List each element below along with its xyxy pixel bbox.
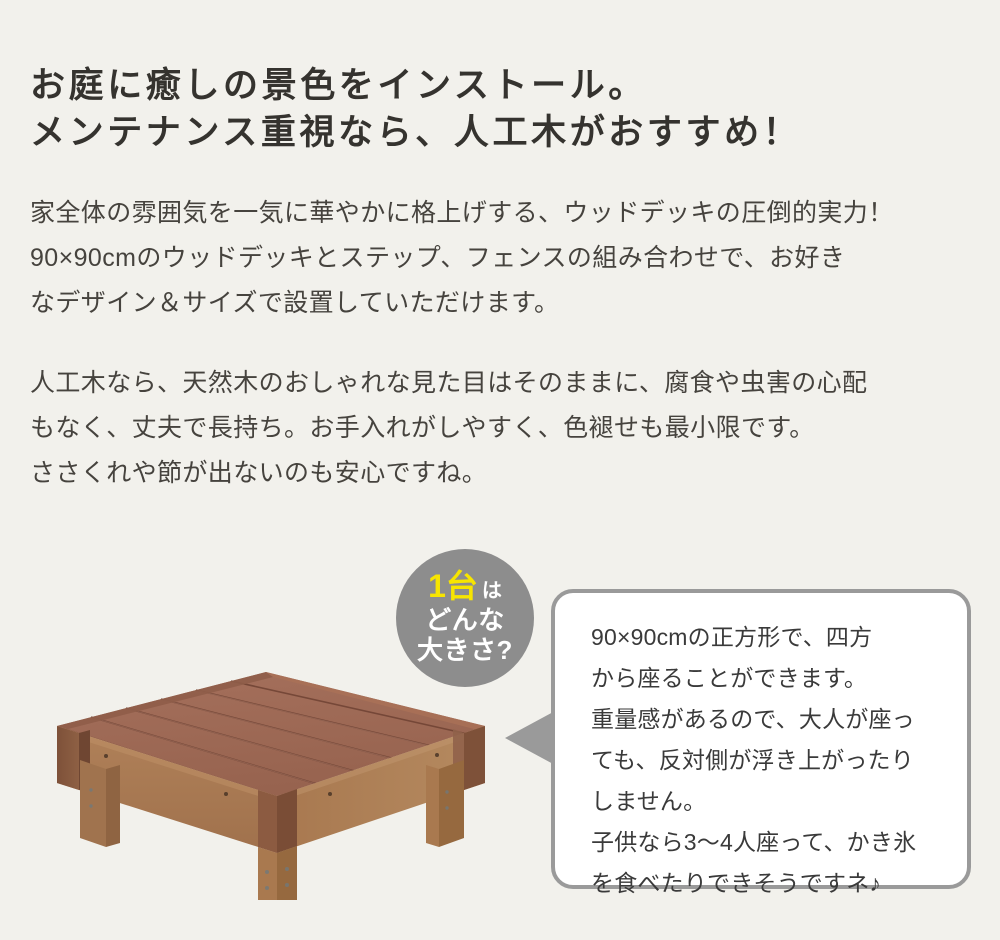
callout-line-1: 90×90cmの正方形で、四方 <box>591 617 951 658</box>
page-title-line-2: メンテナンス重視なら、人工木がおすすめ！ <box>30 109 960 156</box>
page-root: お庭に癒しの景色をインストール。 メンテナンス重視なら、人工木がおすすめ！ 家全… <box>0 0 1000 940</box>
description-paragraph-2-line-2: もなく、丈夫で長持ち。お手入れがしやすく、色褪せも最小限です。 <box>30 406 970 451</box>
callout-line-2: から座ることができます。 <box>591 658 951 699</box>
description-paragraph-1-line-1: 家全体の雰囲気を一気に華やかに格上げする、ウッドデッキの圧倒的実力！ <box>30 191 970 236</box>
callout-line-5: しません。 <box>591 781 951 822</box>
description-paragraph-1: 家全体の雰囲気を一気に華やかに格上げする、ウッドデッキの圧倒的実力！ 90×90… <box>30 191 970 326</box>
badge-particle: は <box>482 581 502 601</box>
badge-line-1: 1台 は <box>428 570 502 602</box>
product-size-callout-bubble: 90×90cmの正方形で、四方 から座ることができます。 重量感があるので、大人… <box>551 589 971 889</box>
badge-count: 1台 <box>428 570 478 602</box>
callout-arrow-icon <box>505 711 555 765</box>
product-image-wood-deck <box>30 650 510 900</box>
description-paragraph-2: 人工木なら、天然木のおしゃれな見た目はそのままに、腐食や虫害の心配 もなく、丈夫… <box>30 361 970 496</box>
badge-line-3: 大きさ? <box>417 635 513 665</box>
description-paragraph-2-line-3: ささくれや節が出ないのも安心ですね。 <box>30 451 970 496</box>
page-title: お庭に癒しの景色をインストール。 メンテナンス重視なら、人工木がおすすめ！ <box>30 62 960 156</box>
description-paragraph-2-line-1: 人工木なら、天然木のおしゃれな見た目はそのままに、腐食や虫害の心配 <box>30 361 970 406</box>
badge-line-2: どんな <box>425 605 505 635</box>
description-paragraph-1-line-3: なデザイン＆サイズで設置していただけます。 <box>30 281 970 326</box>
callout-line-6: 子供なら3〜4人座って、かき氷 <box>591 822 951 863</box>
callout-line-3: 重量感があるので、大人が座っ <box>591 699 951 740</box>
callout-line-7: を食べたりできそうですネ♪ <box>591 863 951 904</box>
callout-line-4: ても、反対側が浮き上がったり <box>591 740 951 781</box>
page-title-line-1: お庭に癒しの景色をインストール。 <box>30 62 960 109</box>
wood-deck-illustration <box>30 650 510 900</box>
callout-text: 90×90cmの正方形で、四方 から座ることができます。 重量感があるので、大人… <box>591 617 951 904</box>
description-paragraph-1-line-2: 90×90cmのウッドデッキとステップ、フェンスの組み合わせで、お好き <box>30 236 970 281</box>
size-question-badge: 1台 は どんな 大きさ? <box>396 549 534 687</box>
